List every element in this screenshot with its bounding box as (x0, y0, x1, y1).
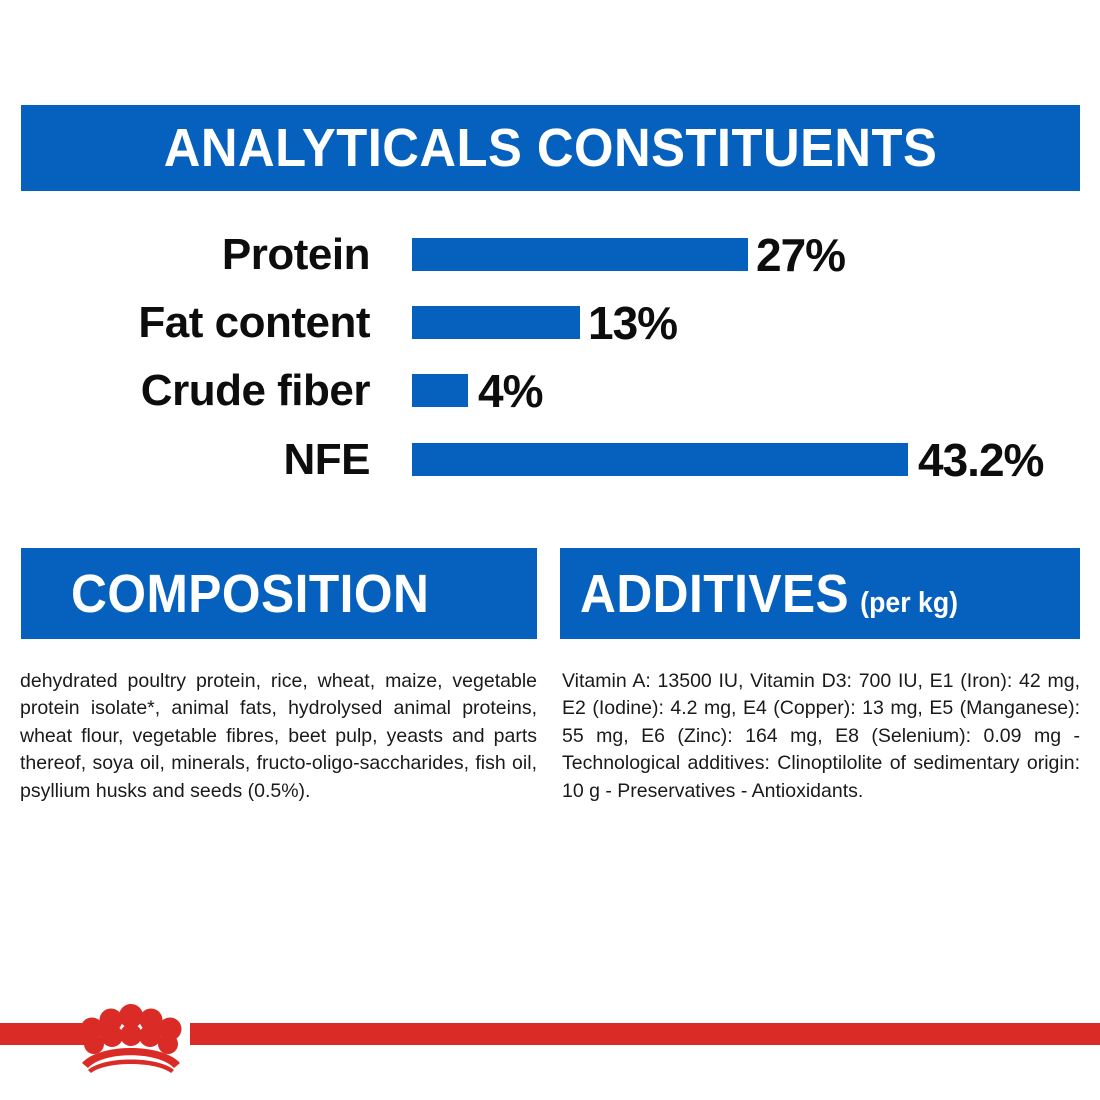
bar-label: Crude fiber (0, 366, 370, 416)
composition-title: COMPOSITION (71, 563, 429, 625)
bar-label: Protein (0, 230, 370, 280)
bar-value: 4% (478, 364, 542, 418)
chart-row: NFE 43.2% (0, 430, 1100, 490)
bar-nfe (412, 443, 908, 476)
royal-canin-crown-icon (72, 1003, 190, 1073)
chart-row: Fat content 13% (0, 293, 1100, 353)
bar-value: 27% (756, 228, 845, 282)
product-label-panel: ANALYTICALS CONSTITUENTS Protein 27% Fat… (0, 0, 1100, 1100)
section-header-analyticals: ANALYTICALS CONSTITUENTS (21, 105, 1080, 191)
chart-row: Crude fiber 4% (0, 361, 1100, 421)
additives-subtitle: (per kg) (860, 587, 958, 620)
bar-fat-content (412, 306, 580, 339)
additives-title-group: ADDITIVES (per kg) (580, 563, 958, 625)
additives-title: ADDITIVES (580, 563, 849, 625)
footer-rule-right (190, 1023, 1100, 1045)
bar-value: 43.2% (918, 433, 1043, 487)
bar-label: NFE (0, 435, 370, 485)
analyticals-bar-chart: Protein 27% Fat content 13% Crude fiber … (0, 225, 1100, 485)
bar-protein (412, 238, 748, 271)
composition-body-text: dehydrated poultry protein, rice, wheat,… (20, 668, 537, 806)
section-header-composition: COMPOSITION (21, 548, 537, 639)
bar-crude-fiber (412, 374, 468, 407)
bar-label: Fat content (0, 298, 370, 348)
additives-body-text: Vitamin A: 13500 IU, Vitamin D3: 700 IU,… (562, 668, 1080, 806)
chart-row: Protein 27% (0, 225, 1100, 285)
bar-value: 13% (588, 296, 677, 350)
analyticals-title: ANALYTICALS CONSTITUENTS (164, 117, 938, 179)
section-header-additives: ADDITIVES (per kg) (560, 548, 1080, 639)
